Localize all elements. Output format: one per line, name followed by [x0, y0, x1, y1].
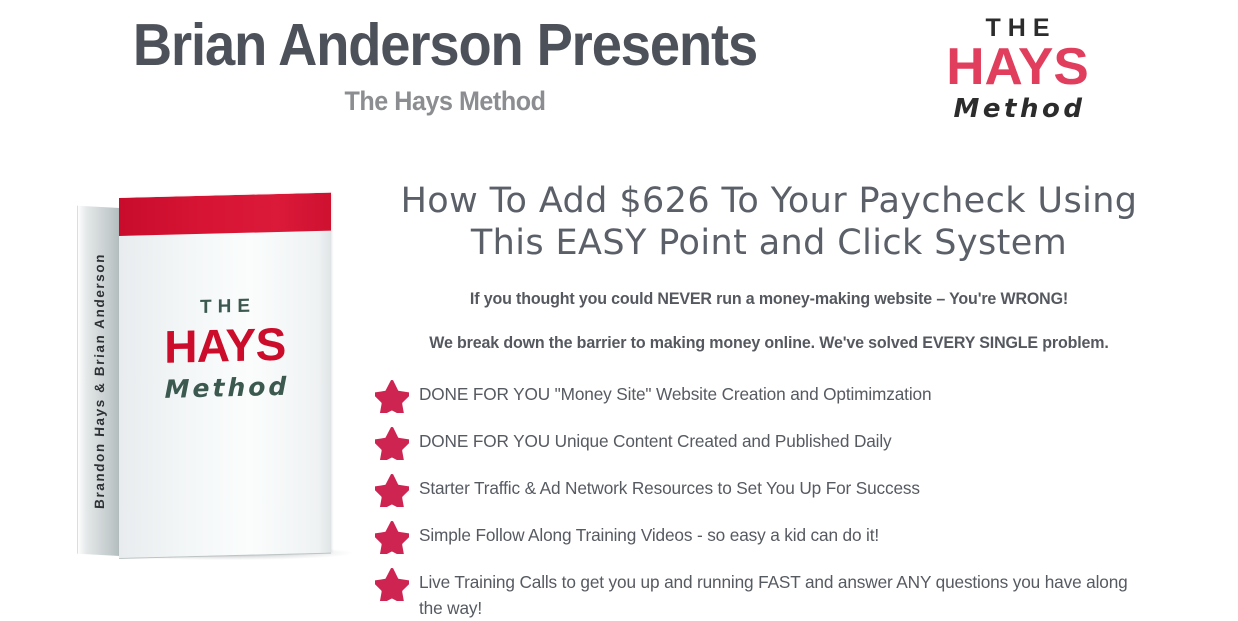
list-item-label: DONE FOR YOU Unique Content Created and …	[419, 425, 892, 454]
product-box-image: Brandon Hays & Brian Anderson THE HAYS M…	[72, 188, 362, 568]
list-item-label: Live Training Calls to get you up and ru…	[419, 566, 1153, 621]
list-item: Starter Traffic & Ad Network Resources t…	[375, 472, 1165, 507]
product-box-spine: Brandon Hays & Brian Anderson	[77, 206, 120, 556]
promise-line-1: If you thought you could NEVER run a mon…	[391, 288, 1148, 310]
product-box-red-band	[119, 193, 331, 236]
page-title: Brian Anderson Presents	[36, 14, 855, 76]
brand-logo-method: Method	[925, 92, 1110, 126]
product-box-method: Method	[119, 369, 331, 408]
star-icon	[375, 427, 409, 460]
star-icon	[375, 474, 409, 507]
benefits-list: DONE FOR YOU "Money Site" Website Creati…	[375, 378, 1165, 621]
product-box-front-logo: THE HAYS Method	[119, 293, 331, 408]
list-item: DONE FOR YOU Unique Content Created and …	[375, 425, 1165, 460]
product-box-hays: HAYS	[119, 317, 331, 374]
product-box-spine-label: Brandon Hays & Brian Anderson	[78, 206, 121, 556]
list-item: DONE FOR YOU "Money Site" Website Creati…	[375, 378, 1165, 413]
page-header: Brian Anderson Presents The Hays Method …	[0, 0, 1238, 160]
sales-headline: How To Add $626 To Your Paycheck Using T…	[379, 180, 1159, 264]
list-item-label: Starter Traffic & Ad Network Resources t…	[419, 472, 920, 501]
page-subtitle: The Hays Method	[31, 86, 859, 116]
header-text-block: Brian Anderson Presents The Hays Method	[0, 14, 890, 116]
list-item: Simple Follow Along Training Videos - so…	[375, 519, 1165, 554]
star-icon	[375, 380, 409, 413]
list-item-label: DONE FOR YOU "Money Site" Website Creati…	[419, 378, 931, 407]
list-item-label: Simple Follow Along Training Videos - so…	[419, 519, 879, 548]
star-icon	[375, 521, 409, 554]
star-icon	[375, 568, 409, 601]
brand-logo: THE HAYS Method	[925, 14, 1110, 126]
list-item: Live Training Calls to get you up and ru…	[375, 566, 1165, 621]
main-content: How To Add $626 To Your Paycheck Using T…	[375, 180, 1175, 621]
brand-logo-hays: HAYS	[923, 42, 1112, 92]
promise-line-2: We break down the barrier to making mone…	[391, 332, 1148, 354]
product-box-front: THE HAYS Method	[119, 193, 331, 558]
